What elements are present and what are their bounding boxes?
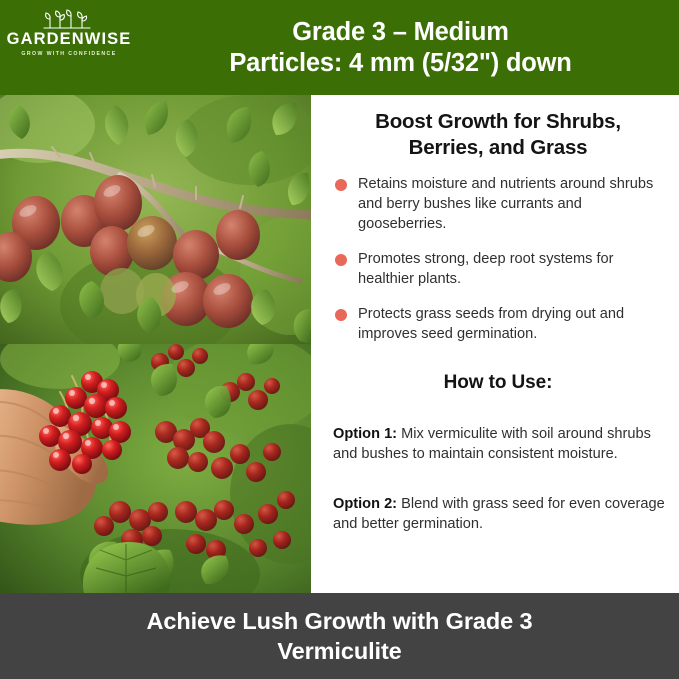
section-heading-line-1: Boost Growth for Shrubs,	[333, 109, 663, 135]
brand-name: GARDENWISE	[7, 31, 132, 48]
list-item: Promotes strong, deep root systems for h…	[333, 250, 669, 290]
bullet-dot-icon	[335, 179, 347, 191]
header-title-line-1: Grade 3 – Medium	[130, 16, 671, 47]
bullet-dot-icon	[335, 254, 347, 266]
header-banner: GARDENWISE GROW WITH CONFIDENCE Grade 3 …	[0, 0, 679, 95]
usage-option-1-label: Option 1:	[333, 426, 397, 442]
list-item: Retains moisture and nutrients around sh…	[333, 175, 669, 235]
section-heading-line-2: Berries, and Grass	[333, 135, 663, 161]
header-title-line-2: Particles: 4 mm (5/32") down	[130, 48, 671, 79]
benefit-text: Retains moisture and nutrients around sh…	[358, 176, 653, 232]
usage-option-2-label: Option 2:	[333, 496, 397, 512]
list-item: Protects grass seeds from drying out and…	[333, 305, 669, 345]
usage-option-1: Option 1: Mix vermiculite with soil arou…	[333, 425, 669, 465]
brand-tagline: GROW WITH CONFIDENCE	[21, 52, 116, 57]
usage-option-2: Option 2: Blend with grass seed for even…	[333, 495, 669, 535]
benefit-text: Protects grass seeds from drying out and…	[358, 306, 624, 342]
footer-title-line-1: Achieve Lush Growth with Grade 3	[147, 606, 533, 636]
header-title: Grade 3 – Medium Particles: 4 mm (5/32")…	[130, 16, 671, 78]
how-to-use-heading: How to Use:	[333, 372, 663, 394]
benefit-list: Retains moisture and nutrients around sh…	[333, 175, 669, 344]
footer-title-line-2: Vermiculite	[147, 636, 533, 666]
redcurrant-harvest-photo	[0, 344, 311, 593]
gooseberry-branch-illustration	[0, 95, 311, 344]
photo-column	[0, 95, 311, 593]
sprout-leaves-icon	[42, 8, 96, 30]
gooseberry-branch-photo	[0, 95, 311, 344]
footer-title: Achieve Lush Growth with Grade 3 Vermicu…	[107, 606, 573, 666]
bullet-dot-icon	[335, 309, 347, 321]
redcurrant-harvest-illustration	[0, 344, 311, 593]
product-infographic: GARDENWISE GROW WITH CONFIDENCE Grade 3 …	[0, 0, 679, 679]
content-column: Boost Growth for Shrubs, Berries, and Gr…	[311, 95, 679, 593]
section-heading: Boost Growth for Shrubs, Berries, and Gr…	[333, 109, 663, 161]
benefit-text: Promotes strong, deep root systems for h…	[358, 251, 614, 287]
footer-banner: Achieve Lush Growth with Grade 3 Vermicu…	[0, 593, 679, 679]
body-section: Boost Growth for Shrubs, Berries, and Gr…	[0, 95, 679, 593]
brand-logo: GARDENWISE GROW WITH CONFIDENCE	[8, 8, 130, 57]
